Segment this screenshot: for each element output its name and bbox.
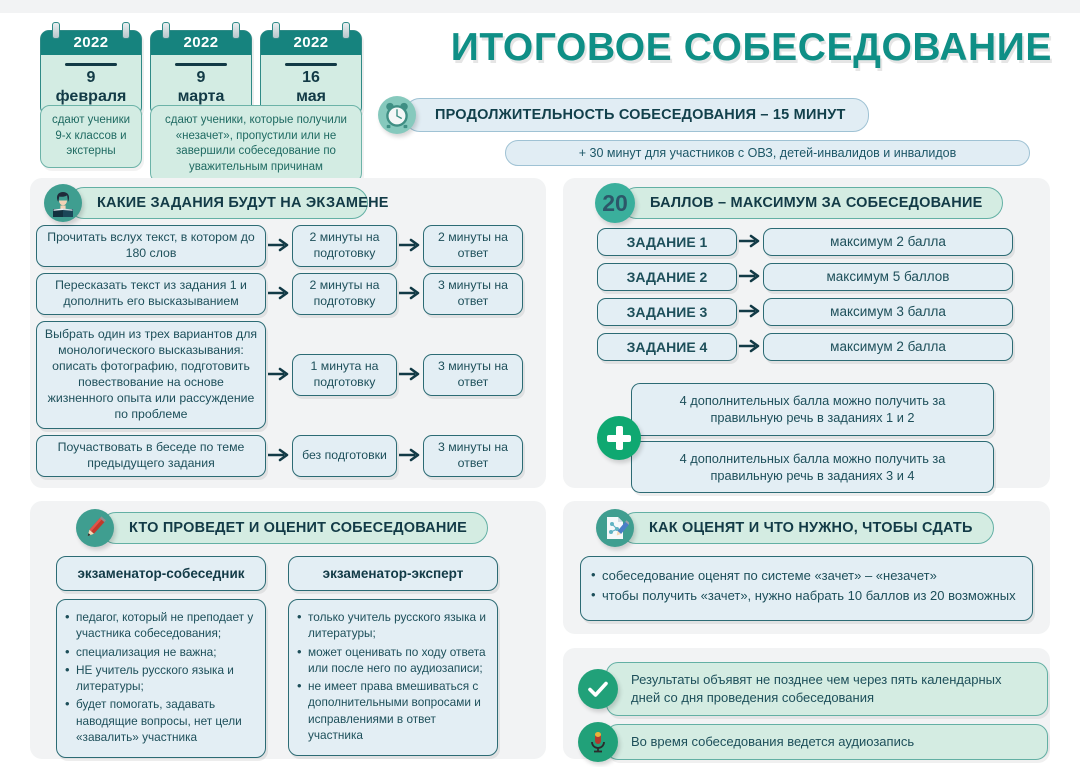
task-preparation: без подготовки [292, 435, 397, 477]
list-item: только учитель русского языка и литерату… [297, 609, 487, 642]
arrow-right-icon [737, 234, 763, 250]
score-row: ЗАДАНИЕ 4 максимум 2 балла [597, 333, 1013, 361]
score-task-label: ЗАДАНИЕ 2 [597, 263, 737, 291]
student-reading-icon [44, 184, 82, 222]
duration-text: ПРОДОЛЖИТЕЛЬНОСТЬ СОБЕСЕДОВАНИЯ – 15 МИН… [404, 98, 869, 132]
task-preparation: 2 минуты на подготовку [292, 273, 397, 315]
duration-block: ПРОДОЛЖИТЕЛЬНОСТЬ СОБЕСЕДОВАНИЯ – 15 МИН… [378, 96, 869, 134]
calendar-note: сдают ученики 9-х классов и экстерны [40, 105, 142, 168]
footer-rows: Результаты объявят не позднее чем через … [578, 662, 1048, 762]
score-value: максимум 2 балла [763, 228, 1013, 256]
calendar-ring-right-icon [122, 22, 130, 39]
pencil-icon [76, 509, 114, 547]
footer-row: Во время собеседования ведется аудиозапи… [578, 722, 1048, 762]
calendar-ring-left-icon [52, 22, 60, 39]
score-heading-row: 20 БАЛЛОВ – МАКСИМУМ ЗА СОБЕСЕДОВАНИЕ [595, 183, 1003, 223]
alarm-clock-icon [378, 96, 416, 134]
who-column-list: только учитель русского языка и литерату… [288, 599, 498, 756]
calendar-card: 2022 9 марта [150, 30, 252, 116]
task-row: Пересказать текст из задания 1 и дополни… [36, 273, 523, 315]
who-column-title: экзаменатор-эксперт [288, 556, 498, 591]
tasks-heading: КАКИЕ ЗАДАНИЯ БУДУТ НА ЭКЗАМЕНЕ [68, 187, 368, 219]
task-preparation: 2 минуты на подготовку [292, 225, 397, 267]
calendar-header: 2022 [261, 31, 361, 55]
list-item: будет помогать, задавать наводящие вопро… [65, 696, 255, 745]
task-description: Поучаствовать в беседе по теме предыдуще… [36, 435, 266, 477]
task-answer: 3 минуты на ответ [423, 354, 523, 396]
footer-text: Во время собеседования ведется аудиозапи… [606, 724, 1048, 760]
score-task-label: ЗАДАНИЕ 1 [597, 228, 737, 256]
arrow-right-icon [737, 269, 763, 285]
task-description: Пересказать текст из задания 1 и дополни… [36, 273, 266, 315]
calendar-rule [175, 63, 227, 66]
who-heading: КТО ПРОВЕДЕТ И ОЦЕНИТ СОБЕСЕДОВАНИЕ [100, 512, 488, 544]
list-item: педагог, который не преподает у участник… [65, 609, 255, 642]
list-item: может оценивать по ходу ответа или после… [297, 644, 487, 677]
page-title: ИТОГОВОЕ СОБЕСЕДОВАНИЕ [451, 26, 1052, 70]
task-row: Выбрать один из трех вариантов для монол… [36, 321, 523, 429]
calendar-note: сдают ученики, которые получили «незачет… [150, 105, 362, 183]
task-answer: 3 минуты на ответ [423, 435, 523, 477]
list-item: не имеет права вмешиваться с дополнитель… [297, 678, 487, 743]
grade-heading-row: КАК ОЦЕНЯТ И ЧТО НУЖНО, ЧТОБЫ СДАТЬ [596, 509, 994, 547]
score-task-label: ЗАДАНИЕ 4 [597, 333, 737, 361]
arrow-right-icon [397, 367, 423, 383]
calendar-card: 2022 9 февраля [40, 30, 142, 116]
arrow-right-icon [397, 286, 423, 302]
document-pencil-icon [596, 509, 634, 547]
grade-list: собеседование оценят по системе «зачет» … [580, 556, 1033, 621]
plus-icon [597, 416, 641, 460]
arrow-right-icon [737, 304, 763, 320]
arrow-right-icon [737, 339, 763, 355]
arrow-right-icon [266, 367, 292, 383]
score-badge-value: 20 [602, 190, 628, 217]
score-rows: ЗАДАНИЕ 1 максимум 2 балла ЗАДАНИЕ 2 мак… [597, 228, 1013, 361]
top-strip [0, 0, 1080, 13]
task-answer: 2 минуты на ответ [423, 225, 523, 267]
calendar-rule [65, 63, 117, 66]
list-item: специализация не важна; [65, 644, 255, 660]
score-row: ЗАДАНИЕ 3 максимум 3 балла [597, 298, 1013, 326]
calendar-day: 9 [151, 69, 251, 87]
score-task-label: ЗАДАНИЕ 3 [597, 298, 737, 326]
calendar-notes: сдают ученики 9-х классов и экстерны сда… [40, 105, 362, 183]
who-columns: экзаменатор-собеседник педагог, который … [56, 556, 498, 758]
calendar-year: 2022 [74, 34, 109, 51]
grade-heading: КАК ОЦЕНЯТ И ЧТО НУЖНО, ЧТОБЫ СДАТЬ [620, 512, 994, 544]
who-column: экзаменатор-собеседник педагог, который … [56, 556, 266, 758]
calendar-ring-left-icon [162, 22, 170, 39]
calendar-header: 2022 [151, 31, 251, 55]
score-heading: БАЛЛОВ – МАКСИМУМ ЗА СОБЕСЕДОВАНИЕ [621, 187, 1003, 219]
arrow-right-icon [397, 238, 423, 254]
calendar-day: 16 [261, 69, 361, 87]
arrow-right-icon [266, 448, 292, 464]
who-column-title: экзаменатор-собеседник [56, 556, 266, 591]
score-badge-20: 20 [595, 183, 635, 223]
score-value: максимум 5 баллов [763, 263, 1013, 291]
score-row: ЗАДАНИЕ 1 максимум 2 балла [597, 228, 1013, 256]
list-item: чтобы получить «зачет», нужно набрать 10… [591, 587, 1020, 605]
calendar-ring-left-icon [272, 22, 280, 39]
task-row: Прочитать вслух текст, в котором до 180 … [36, 225, 523, 267]
score-value: максимум 3 балла [763, 298, 1013, 326]
bonus-text: 4 дополнительных балла можно получить за… [631, 383, 994, 436]
calendar-day: 9 [41, 69, 141, 87]
task-description: Прочитать вслух текст, в котором до 180 … [36, 225, 266, 267]
list-item: собеседование оценят по системе «зачет» … [591, 567, 1020, 585]
check-circle-icon [578, 669, 618, 709]
score-row: ЗАДАНИЕ 2 максимум 5 баллов [597, 263, 1013, 291]
task-preparation: 1 минута на подготовку [292, 354, 397, 396]
task-row: Поучаствовать в беседе по теме предыдуще… [36, 435, 523, 477]
calendar-row: 2022 9 февраля 2022 9 марта 2022 16 мая [40, 30, 362, 116]
tasks-heading-row: КАКИЕ ЗАДАНИЯ БУДУТ НА ЭКЗАМЕНЕ [44, 184, 368, 222]
footer-text: Результаты объявят не позднее чем через … [606, 662, 1048, 716]
calendar-ring-right-icon [232, 22, 240, 39]
arrow-right-icon [266, 286, 292, 302]
arrow-right-icon [397, 448, 423, 464]
calendar-ring-right-icon [342, 22, 350, 39]
tasks-list: Прочитать вслух текст, в котором до 180 … [36, 225, 523, 477]
who-heading-row: КТО ПРОВЕДЕТ И ОЦЕНИТ СОБЕСЕДОВАНИЕ [76, 509, 488, 547]
calendar-card: 2022 16 мая [260, 30, 362, 116]
bonus-block: 4 дополнительных балла можно получить за… [597, 383, 994, 493]
who-column-list: педагог, который не преподает у участник… [56, 599, 266, 758]
footer-row: Результаты объявят не позднее чем через … [578, 662, 1048, 716]
arrow-right-icon [266, 238, 292, 254]
score-value: максимум 2 балла [763, 333, 1013, 361]
calendar-year: 2022 [294, 34, 329, 51]
duration-extra-text: + 30 минут для участников с ОВЗ, детей-и… [505, 140, 1030, 166]
calendar-rule [285, 63, 337, 66]
calendar-year: 2022 [184, 34, 219, 51]
task-answer: 3 минуты на ответ [423, 273, 523, 315]
bonus-text: 4 дополнительных балла можно получить за… [631, 441, 994, 494]
list-item: НЕ учитель русского языка и литературы; [65, 662, 255, 695]
task-description: Выбрать один из трех вариантов для монол… [36, 321, 266, 429]
who-column: экзаменатор-эксперт только учитель русск… [288, 556, 498, 758]
calendar-header: 2022 [41, 31, 141, 55]
